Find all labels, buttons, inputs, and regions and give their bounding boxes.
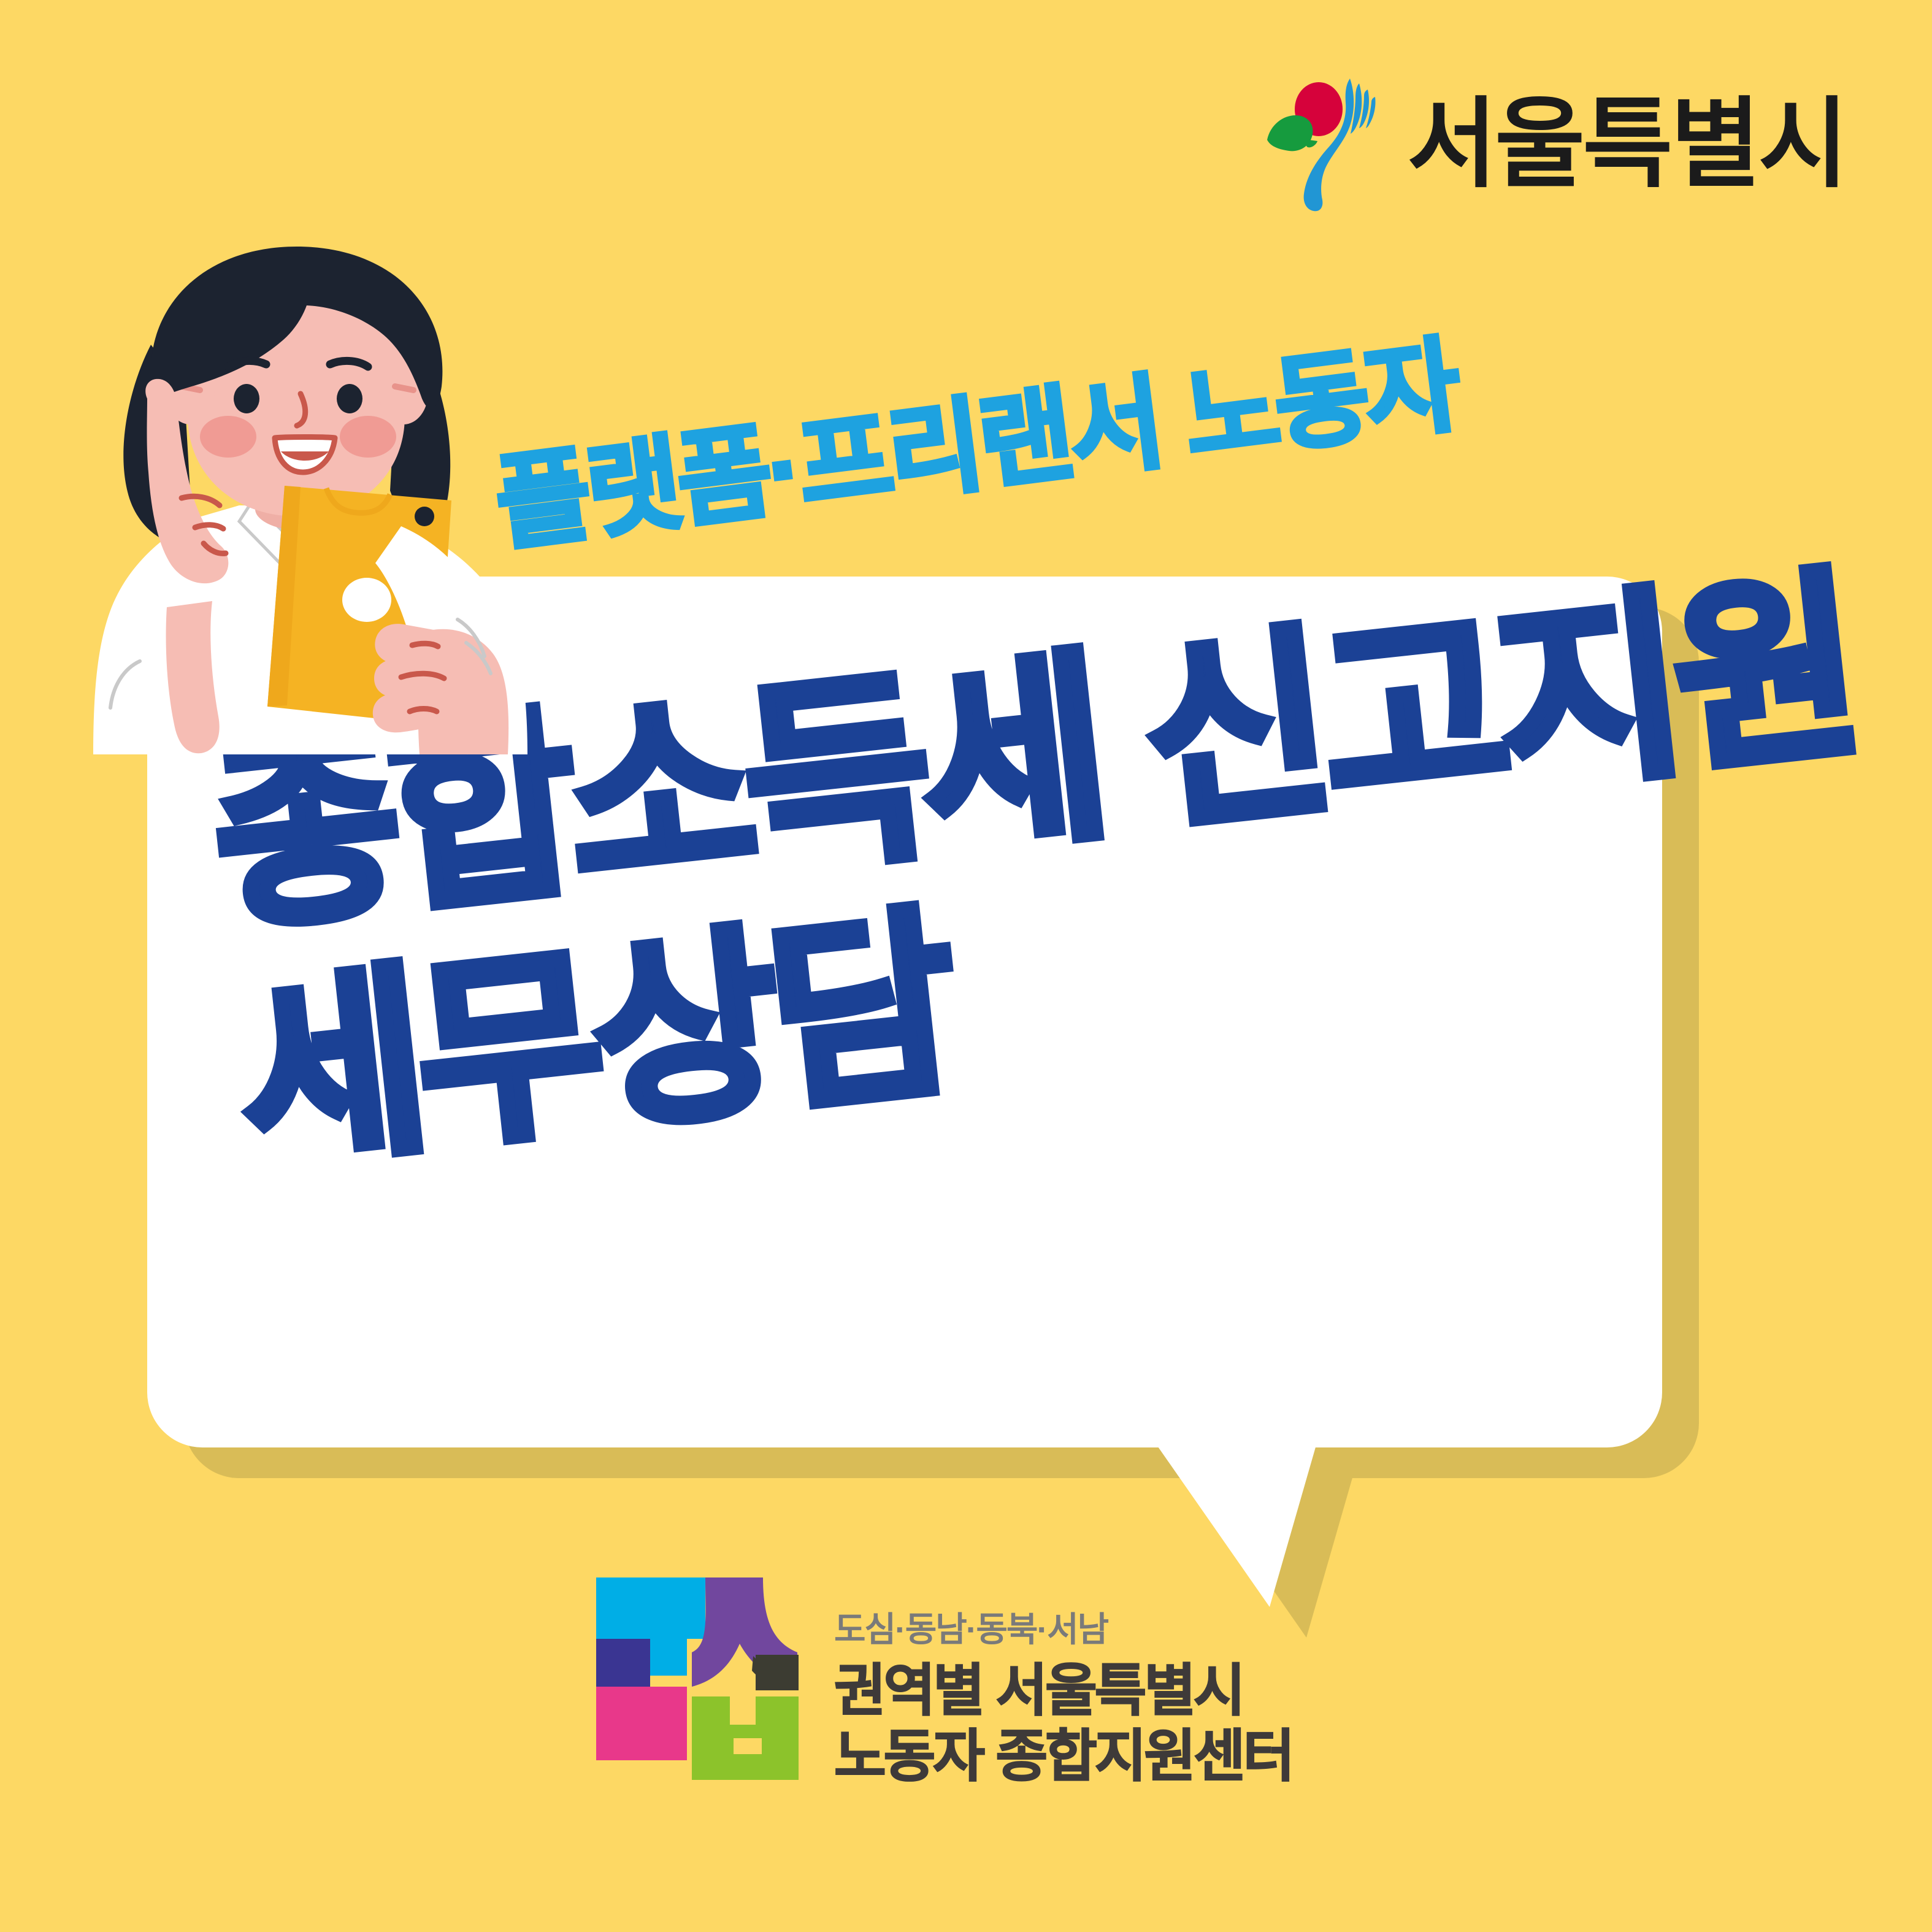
regional-labor-support-center-mark-icon: [589, 1570, 803, 1828]
seoul-city-logo: 서울특별시: [1262, 74, 1846, 215]
center-logo-eyebrow: 도심·동남·동북·서남: [834, 1608, 1292, 1651]
poster-subtitle: 플랫폼·프리랜서 노동자: [490, 333, 1462, 556]
woman-pointing-with-tablet-illustration: [37, 202, 577, 754]
seoul-city-wordmark: 서울특별시: [1407, 95, 1846, 193]
center-logo-line-2: 노동자 종합지원센터: [834, 1724, 1292, 1790]
seoul-city-emblem-icon: [1262, 74, 1391, 215]
poster-canvas: 서울특별시 플랫폼·프리랜서 노동자 종합소득세 신고지원 세무상담: [0, 0, 1932, 1932]
regional-labor-support-center-logo: 도심·동남·동북·서남 권역별 서울특별시 노동자 종합지원센터: [589, 1570, 1292, 1828]
center-logo-text-block: 도심·동남·동북·서남 권역별 서울특별시 노동자 종합지원센터: [834, 1608, 1292, 1789]
center-logo-line-1: 권역별 서울특별시: [834, 1658, 1292, 1724]
